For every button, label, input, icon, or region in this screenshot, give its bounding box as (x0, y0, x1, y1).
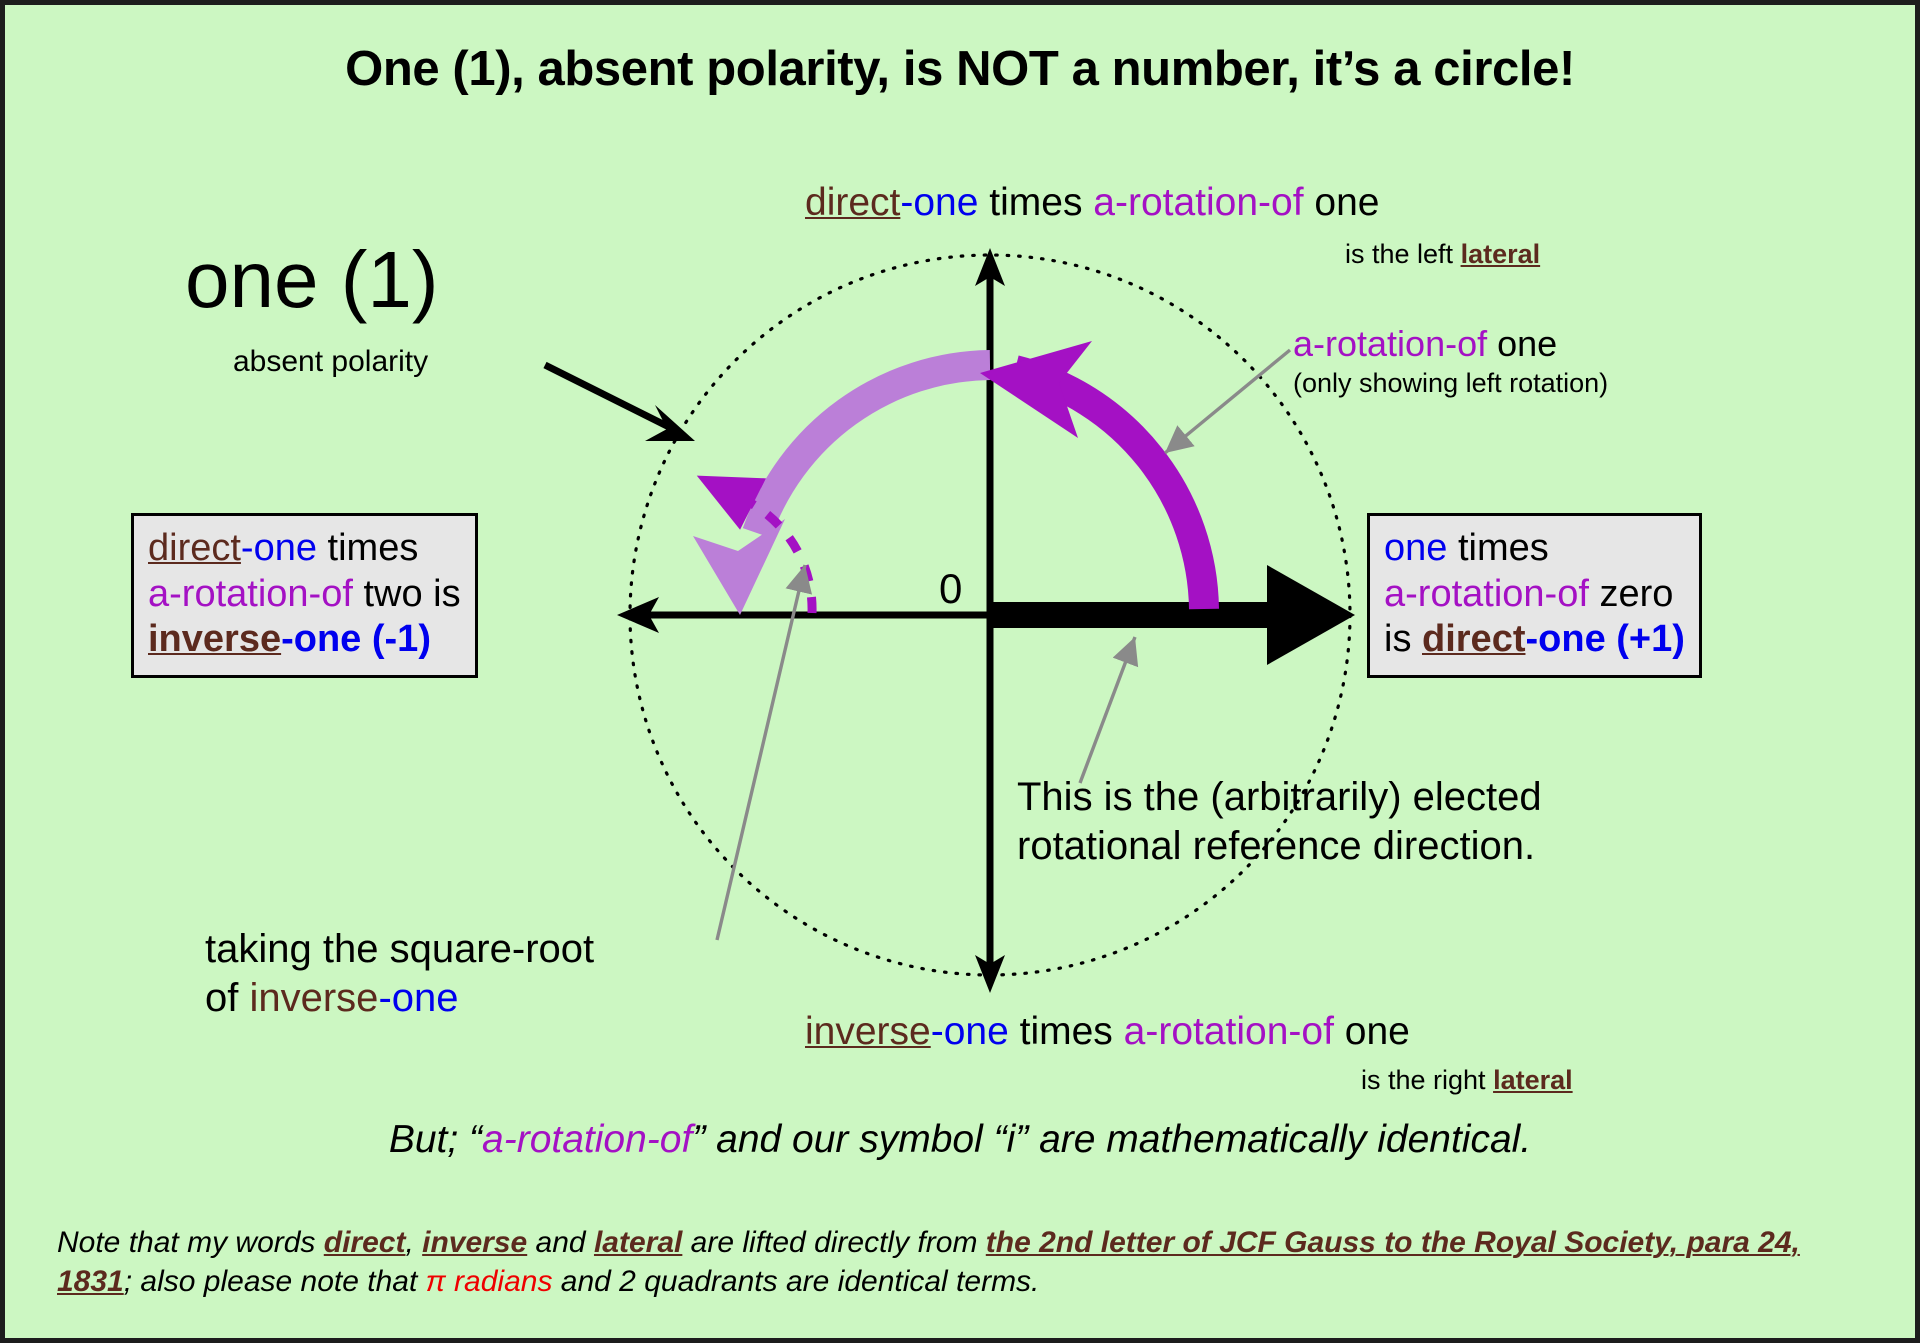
leader-square-root (717, 565, 805, 940)
dark-rotation-arc (1015, 370, 1204, 609)
bottom-sub-lateral: lateral (1493, 1065, 1573, 1095)
but-line-a: But; “ (389, 1118, 482, 1161)
footnote-lateral: lateral (594, 1226, 682, 1259)
right-direct: direct (1422, 618, 1525, 660)
left-inverse: inverse (148, 618, 281, 660)
top-circle-label: direct-one times a-rotation-of one (805, 183, 1379, 224)
left-rotation: a-rotation-of (148, 573, 353, 615)
page-title: One (1), absent polarity, is NOT a numbe… (5, 41, 1915, 97)
axis-arrow-down (975, 955, 1005, 993)
dark-rotation-arrowhead (980, 341, 1092, 438)
rotation-annotation-sub: (only showing left rotation) (1293, 368, 1608, 399)
footnote-pi-radians: π radians (426, 1265, 553, 1298)
left-times: times (317, 527, 418, 569)
rotation-annotation: a-rotation-of one (only showing left rot… (1293, 323, 1608, 399)
bottom-label-times: times (1009, 1010, 1124, 1053)
fact-box-right-line2: a-rotation-of zero (1384, 572, 1685, 618)
top-label-rotation: a-rotation-of (1093, 181, 1303, 224)
axis-arrow-left (617, 597, 659, 633)
leader-one-callout-head (645, 405, 695, 441)
square-root-arc (745, 500, 812, 613)
reference-note-line2: rotational reference direction. (1017, 822, 1542, 871)
but-line-b: a-rotation-of (482, 1118, 692, 1161)
axis-arrow-up (975, 248, 1005, 286)
top-circle-sublabel: is the left lateral (1345, 239, 1540, 270)
bottom-circle-label: inverse-one times a-rotation-of one (805, 1010, 1410, 1054)
bottom-label-rotation: a-rotation-of (1124, 1010, 1334, 1053)
right-value: (+1) (1606, 618, 1685, 660)
sqrt-one: -one (378, 976, 458, 1020)
square-root-note-line2: of inverse-one (205, 974, 594, 1023)
footnote-g: are lifted directly from (682, 1226, 985, 1259)
footnote-a: Note that my words (57, 1226, 324, 1259)
bottom-label-inverse: inverse (805, 1010, 931, 1053)
top-label-tail: one (1304, 181, 1380, 224)
right-is: is (1384, 618, 1422, 660)
footnote-inverse: inverse (422, 1226, 527, 1259)
fact-box-left-line3: inverse-one (-1) (148, 617, 461, 663)
footnote: Note that my words direct, inverse and l… (57, 1223, 1879, 1301)
origin-label: 0 (939, 565, 962, 613)
footnote-i: ; also please note that (124, 1265, 426, 1298)
top-sub-prefix: is the left (1345, 239, 1461, 269)
but-line-c: ” and our symbol “i” are mathematically … (692, 1118, 1531, 1161)
fact-box-left: direct-one times a-rotation-of two is in… (131, 513, 478, 678)
left-twois: two is (353, 573, 461, 615)
square-root-note: taking the square-root of inverse-one (205, 925, 594, 1023)
right-zero: zero (1589, 573, 1673, 615)
square-root-note-line1: taking the square-root (205, 925, 594, 974)
footnote-c: , (405, 1226, 422, 1259)
right-rotation: a-rotation-of (1384, 573, 1589, 615)
footnote-direct: direct (324, 1226, 406, 1259)
left-one2: -one (281, 618, 361, 660)
right-times: times (1447, 527, 1548, 569)
identity-statement: But; “a-rotation-of” and our symbol “i” … (5, 1118, 1915, 1162)
fact-box-left-line1: direct-one times (148, 526, 461, 572)
leader-rotation-note (1165, 350, 1290, 453)
top-label-direct: direct (805, 181, 900, 224)
fact-box-left-line2: a-rotation-of two is (148, 572, 461, 618)
light-rotation-arc (757, 365, 990, 533)
left-one: -one (241, 527, 317, 569)
reference-direction-note: This is the (arbitrarily) elected rotati… (1017, 773, 1542, 871)
leader-reference-direction (1080, 637, 1135, 783)
leader-one-callout (545, 365, 673, 429)
top-label-times: times (978, 181, 1093, 224)
fact-box-right-line3: is direct-one (+1) (1384, 617, 1685, 663)
top-label-one: -one (900, 181, 978, 224)
one-callout-subtitle: absent polarity (233, 345, 428, 379)
left-direct: direct (148, 527, 241, 569)
reference-note-line1: This is the (arbitrarily) elected (1017, 773, 1542, 822)
bottom-sub-prefix: is the right (1361, 1065, 1493, 1095)
bottom-label-tail: one (1334, 1010, 1410, 1053)
one-callout-title: one (1) (185, 240, 438, 320)
right-one2: -one (1525, 618, 1605, 660)
footnote-k: and 2 quadrants are identical terms. (552, 1265, 1039, 1298)
rotation-annotation-emph: a-rotation-of (1293, 323, 1487, 364)
left-value: (-1) (361, 618, 431, 660)
top-sub-lateral: lateral (1461, 239, 1541, 269)
sqrt-of: of (205, 976, 249, 1020)
diagram-canvas: One (1), absent polarity, is NOT a numbe… (0, 0, 1920, 1343)
right-one: one (1384, 527, 1447, 569)
fact-box-right: one times a-rotation-of zero is direct-o… (1367, 513, 1702, 678)
footnote-e: and (527, 1226, 594, 1259)
light-rotation-arrowhead (693, 519, 785, 615)
reference-direction-arrowhead (1267, 565, 1355, 665)
bottom-circle-sublabel: is the right lateral (1361, 1065, 1573, 1096)
sqrt-inverse: inverse (249, 976, 378, 1020)
fact-box-right-line1: one times (1384, 526, 1685, 572)
bottom-label-one: -one (931, 1010, 1009, 1053)
rotation-annotation-rest: one (1487, 323, 1557, 364)
